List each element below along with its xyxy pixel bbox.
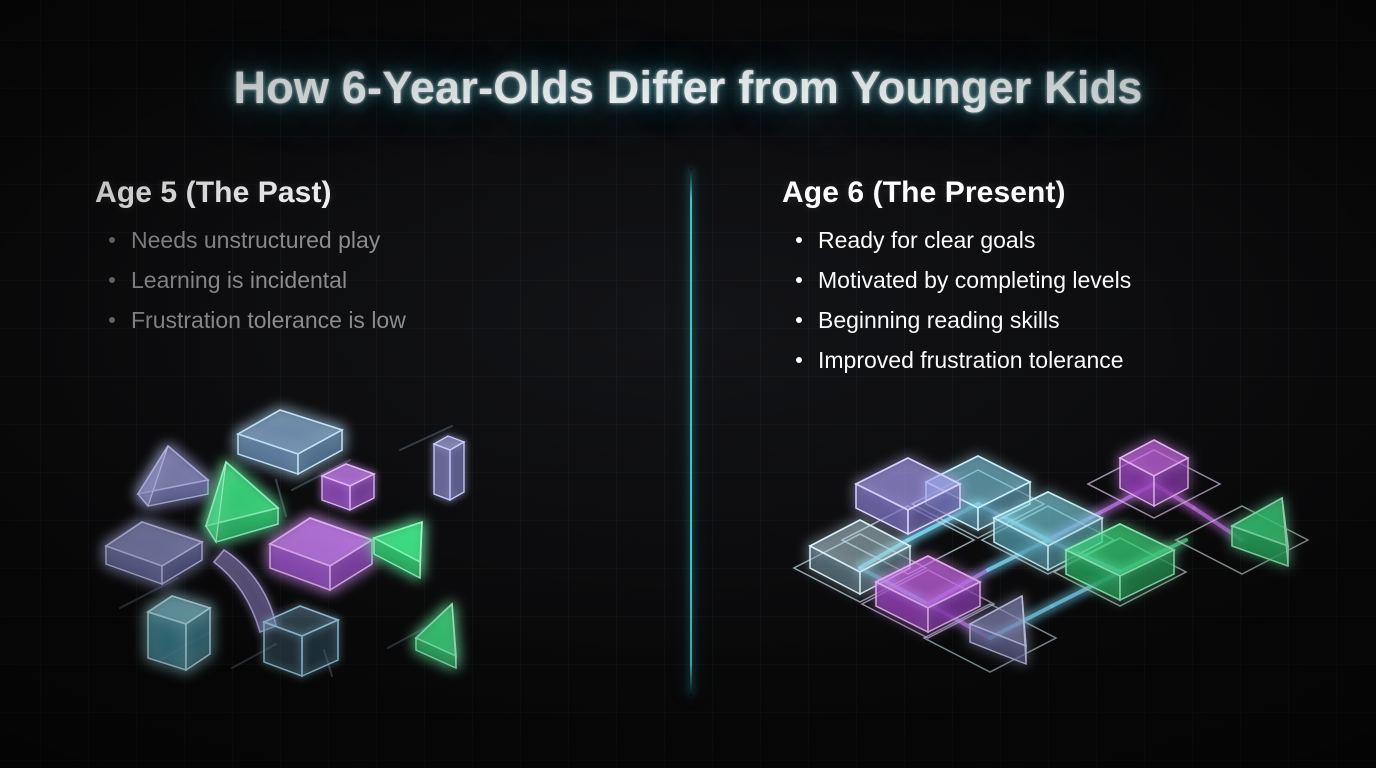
shape-arc-purple (214, 550, 276, 632)
bullet-text: Frustration tolerance is low (131, 307, 406, 333)
shape-column-periwinkle (434, 436, 464, 500)
shape-wedge-green-top (206, 462, 278, 542)
node-wedge-green (1232, 498, 1288, 566)
bullet-dot-icon (796, 277, 802, 283)
list-item: Needs unstructured play (103, 220, 655, 260)
bullet-text: Needs unstructured play (131, 227, 380, 253)
column-heading-right: Age 6 (The Present) (782, 176, 1342, 210)
list-item: Ready for clear goals (790, 220, 1342, 260)
bullet-text: Motivated by completing levels (818, 267, 1131, 293)
column-age-5: Age 5 (The Past) Needs unstructured play… (95, 176, 655, 340)
bullet-text: Ready for clear goals (818, 227, 1035, 253)
shape-slab-periwinkle (106, 522, 202, 584)
shape-slab-magenta (270, 518, 372, 590)
bullet-dot-icon (109, 237, 115, 243)
bullet-list-left: Needs unstructured play Learning is inci… (95, 220, 655, 340)
scattered-blocks-illustration (100, 400, 660, 720)
shape-slab-blue (238, 410, 342, 474)
slide-root: How 6-Year-Olds Differ from Younger Kids… (0, 0, 1376, 768)
bullet-text: Learning is incidental (131, 267, 347, 293)
bullet-dot-icon (796, 237, 802, 243)
list-item: Frustration tolerance is low (103, 300, 655, 340)
column-age-6: Age 6 (The Present) Ready for clear goal… (782, 176, 1342, 380)
bullet-dot-icon (109, 277, 115, 283)
shape-wedge-periwinkle (138, 446, 208, 506)
bullet-text: Beginning reading skills (818, 307, 1060, 333)
list-item: Beginning reading skills (790, 300, 1342, 340)
bullet-dot-icon (796, 317, 802, 323)
shape-wedge-green-mid (374, 522, 422, 578)
bullet-dot-icon (109, 317, 115, 323)
list-item: Improved frustration tolerance (790, 340, 1342, 380)
shape-wedge-green-bottom (416, 604, 456, 668)
connected-grid-illustration (790, 400, 1310, 720)
list-item: Motivated by completing levels (790, 260, 1342, 300)
shape-cube-wireframe-blue (264, 606, 338, 676)
shape-box-cyan (148, 596, 210, 670)
page-title: How 6-Year-Olds Differ from Younger Kids (0, 62, 1376, 114)
bullet-dot-icon (796, 357, 802, 363)
vertical-divider (690, 168, 692, 696)
list-item: Learning is incidental (103, 260, 655, 300)
bullet-text: Improved frustration tolerance (818, 347, 1124, 373)
bullet-list-right: Ready for clear goals Motivated by compl… (782, 220, 1342, 380)
column-heading-left: Age 5 (The Past) (95, 176, 655, 210)
